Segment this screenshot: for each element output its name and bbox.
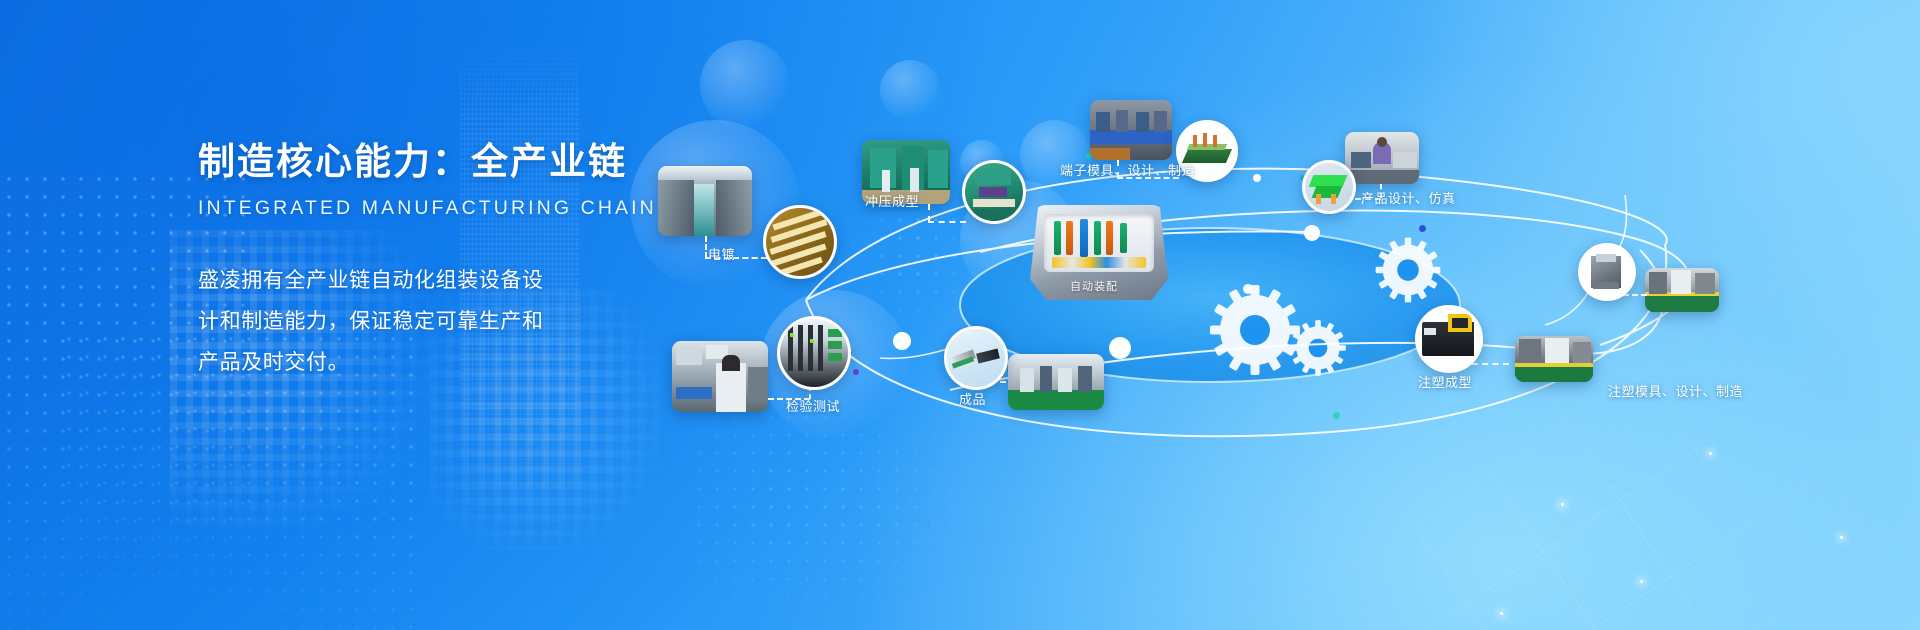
connector-dash-vertical	[928, 204, 930, 222]
mold-pillar	[1094, 221, 1101, 255]
mold-pillar	[1106, 221, 1113, 255]
mold-pillar	[1080, 219, 1088, 257]
engineer-cad-photo[interactable]	[1345, 132, 1419, 184]
mold-pillar	[1054, 221, 1061, 255]
test-rack-icon[interactable]	[777, 316, 851, 390]
connector-dash-vertical	[705, 236, 707, 258]
node-label-inspection: 检验测试	[786, 396, 840, 415]
injection-mold-icon[interactable]	[1578, 243, 1636, 301]
stamping-press-icon[interactable]	[962, 160, 1026, 224]
node-label-injection-forming: 注塑成型	[1418, 372, 1472, 391]
node-label-injection-mold: 注塑模具、设计、制造	[1608, 381, 1743, 400]
connector-parts-icon[interactable]	[944, 326, 1008, 390]
mold-workshop-photo[interactable]	[1090, 100, 1172, 160]
mold-pillar	[1120, 223, 1127, 253]
orbit-lines	[0, 0, 1920, 630]
node-label-product-design: 产品设计、仿真	[1361, 188, 1456, 207]
assembly-line-photo[interactable]	[1008, 354, 1104, 410]
mold-pillar	[1066, 221, 1073, 255]
plating-line-photo[interactable]	[658, 166, 752, 236]
connector-dash-horizontal	[928, 221, 966, 223]
manufacturing-chain-banner: 制造核心能力：全产业链 INTEGRATED MANUFACTURING CHA…	[0, 0, 1920, 630]
mold-tray	[1052, 257, 1146, 268]
lab-technician-photo[interactable]	[672, 341, 768, 412]
green-3d-model-icon[interactable]	[1302, 160, 1356, 214]
injection-machine-icon[interactable]	[1415, 305, 1483, 373]
gold-plated-strip-icon[interactable]	[763, 205, 837, 279]
node-label-finished-product: 成品	[959, 389, 986, 408]
node-label-stamping: 冲压成型	[865, 191, 919, 210]
center-label: 自动装配	[1070, 278, 1118, 294]
manufacturing-chain-diagram: 自动装配 电镀	[0, 0, 1920, 630]
injection-machine-photo[interactable]	[1515, 336, 1593, 382]
node-label-terminal-mold: 端子模具、设计、制造	[1060, 160, 1195, 179]
injection-mold-line-photo[interactable]	[1645, 268, 1719, 312]
node-label-electroplating: 电镀	[708, 244, 735, 263]
